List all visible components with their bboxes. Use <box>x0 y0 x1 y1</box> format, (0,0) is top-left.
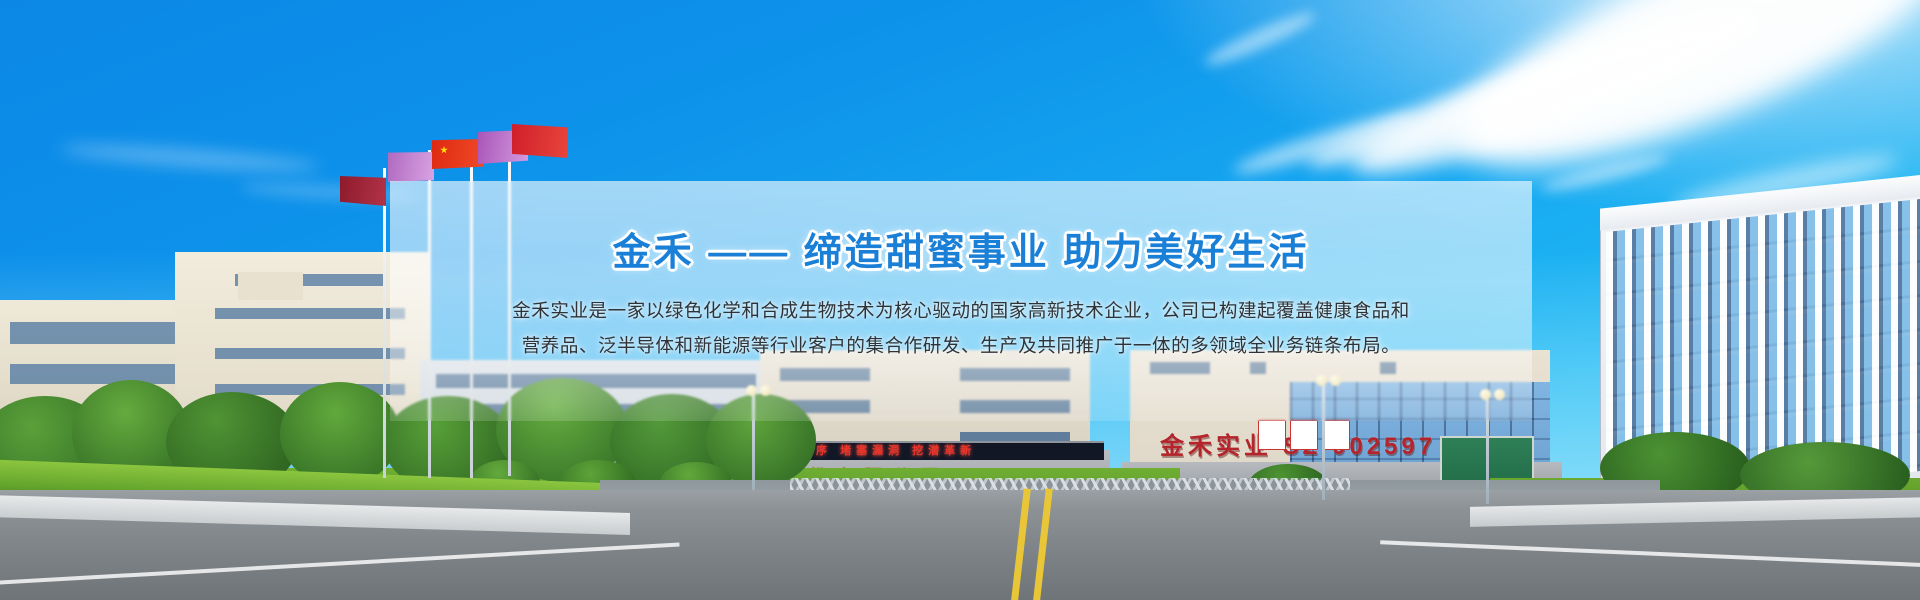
hero-description: 金禾实业是一家以绿色化学和合成生物技术为核心驱动的国家高新技术企业，公司已构建起… <box>390 293 1532 363</box>
cloud-icon <box>60 141 320 175</box>
hero-description-line-1: 金禾实业是一家以绿色化学和合成生物技术为核心驱动的国家高新技术企业，公司已构建起… <box>390 293 1532 328</box>
flag-dark-red <box>340 176 386 206</box>
flag-purple <box>388 152 434 182</box>
flag-red-gold <box>512 124 568 158</box>
hero-banner: 加强管理 落实措施 提升素质 规范程序 堵塞漏洞 挖潜革新 安徽金禾实业股份有限… <box>0 0 1920 600</box>
factory-roof-box <box>238 272 303 300</box>
cloud-icon <box>1202 6 1319 71</box>
flagpole <box>383 168 386 478</box>
hero-text-panel: 金禾 —— 缔造甜蜜事业 助力美好生活 金禾实业是一家以绿色化学和合成生物技术为… <box>390 181 1532 421</box>
prohibition-signs <box>1258 420 1350 450</box>
page-title: 金禾 —— 缔造甜蜜事业 助力美好生活 <box>390 221 1532 276</box>
flag-china-national <box>432 139 484 169</box>
hero-description-line-2: 营养品、泛半导体和新能源等行业客户的集合作研发、生产及共同推广于一体的多领域全业… <box>390 328 1532 363</box>
